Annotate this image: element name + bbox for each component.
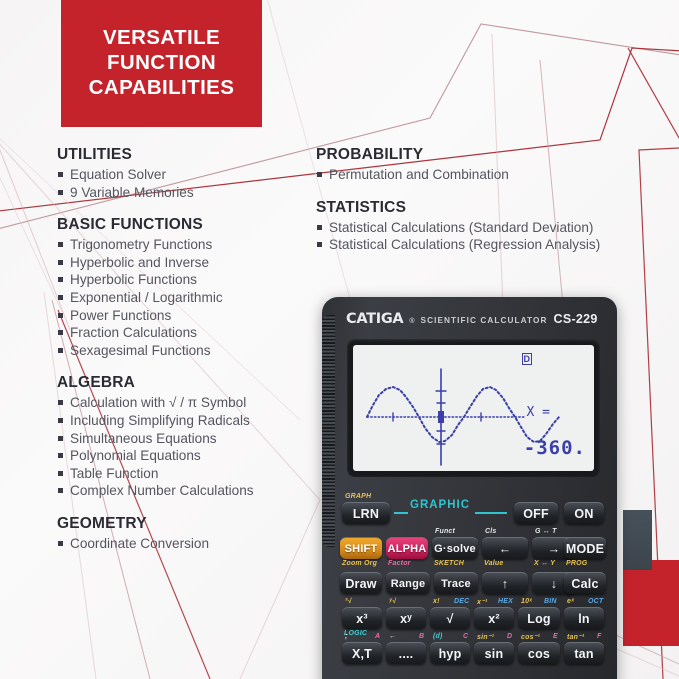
feature-list-item: Trigonometry Functions xyxy=(57,236,307,254)
range-key[interactable]: Range xyxy=(386,572,430,594)
bullet-square-icon xyxy=(58,453,63,458)
bullet-square-icon xyxy=(58,260,63,265)
graphic-dash-right xyxy=(475,512,507,514)
feature-list-item: Fraction Calculations xyxy=(57,324,307,342)
log-key-alt-label: BIN xyxy=(544,598,557,605)
cos-key[interactable]: cos xyxy=(518,642,560,664)
feature-item-label: Polynomial Equations xyxy=(70,448,201,463)
bullet-square-icon xyxy=(58,190,63,195)
feature-item-label: Statistical Calculations (Regression Ana… xyxy=(329,237,600,252)
x-t-key[interactable]: X,T xyxy=(342,642,382,664)
power-row: GRAPHLRNOFFONGRAPHIC xyxy=(338,493,606,528)
corner-red-block xyxy=(623,560,679,646)
feature-list-item: Power Functions xyxy=(57,307,307,325)
bullet-square-icon xyxy=(58,348,63,353)
graphic-dash-left xyxy=(394,512,408,514)
bullet-square-icon xyxy=(58,277,63,282)
tan-key-shift-label: tan⁻¹ xyxy=(567,633,585,641)
feature-section-title: PROBABILITY xyxy=(316,146,676,164)
feature-item-label: Statistical Calculations (Standard Devia… xyxy=(329,220,593,235)
log-key-shift-label: 10ˣ xyxy=(521,598,532,605)
feature-item-label: Hyperbolic Functions xyxy=(70,272,197,287)
x-cubed-key[interactable]: x³ xyxy=(342,607,382,629)
calc-key[interactable]: Calc xyxy=(564,572,606,594)
x-cubed-key-shift-label: ³√ xyxy=(345,598,352,605)
mode-key[interactable]: MODE xyxy=(564,537,606,559)
feature-column-right: PROBABILITYPermutation and CombinationST… xyxy=(316,146,676,254)
feature-item-label: Including Simplifying Radicals xyxy=(70,413,250,428)
feature-item-label: Fraction Calculations xyxy=(70,325,197,340)
brand-logo: CATIGA xyxy=(346,311,403,327)
feature-section-title: BASIC FUNCTIONS xyxy=(57,216,307,234)
registered-mark-icon: ® xyxy=(409,318,414,325)
brand-plate: CATIGA ® SCIENTIFIC CALCULATOR CS-229 xyxy=(346,311,601,327)
model-number: CS-229 xyxy=(554,312,598,326)
feature-section: STATISTICSStatistical Calculations (Stan… xyxy=(316,199,676,254)
comma-key-shift-label: ← xyxy=(389,633,396,640)
feature-section-title: UTILITIES xyxy=(57,146,307,164)
feature-item-label: Exponential / Logarithmic xyxy=(70,290,223,305)
header-banner: VERSATILE FUNCTION CAPABILITIES xyxy=(61,0,262,127)
feature-item-label: Power Functions xyxy=(70,308,171,323)
feature-list-item: Complex Number Calculations xyxy=(57,482,307,500)
banner-line-2: FUNCTION xyxy=(107,50,216,75)
lcd-value: -360. xyxy=(524,437,586,459)
x-t-key-shift-label: ; xyxy=(345,633,348,640)
bullet-square-icon xyxy=(58,488,63,493)
hyp-key-shift-label: (d) xyxy=(433,633,443,640)
feature-section-title: GEOMETRY xyxy=(57,515,307,533)
shift-key[interactable]: SHIFT xyxy=(340,537,382,559)
bullet-square-icon xyxy=(58,172,63,177)
feature-item-label: 9 Variable Memories xyxy=(70,185,194,200)
lcd-screen: D X = -360. xyxy=(353,345,594,471)
bullet-square-icon xyxy=(58,471,63,476)
left-arrow-key-shift-label: Cls xyxy=(485,528,497,535)
on-key[interactable]: ON xyxy=(564,502,604,524)
right-arrow-key-shift-label: G ↔ T xyxy=(535,528,557,535)
feature-column-left: UTILITIESEquation Solver9 Variable Memor… xyxy=(57,146,307,553)
draw-key[interactable]: Draw xyxy=(340,572,382,594)
power-func-row: ³√x³LOGICʸ√xʸx!DEC√x⁻¹HEXx²10ˣBINLogeˣOC… xyxy=(338,598,606,633)
bullet-square-icon xyxy=(317,172,322,177)
tan-key-alpha-letter: F xyxy=(597,633,601,640)
feature-section: PROBABILITYPermutation and Combination xyxy=(316,146,676,184)
bullet-square-icon xyxy=(317,225,322,230)
sin-key[interactable]: sin xyxy=(474,642,514,664)
banner-line-3: CAPABILITIES xyxy=(89,75,235,100)
trace-key[interactable]: Trace xyxy=(434,572,478,594)
x-to-y-key-shift-label: ʸ√ xyxy=(389,598,396,605)
x-squared-key-shift-label: x⁻¹ xyxy=(477,598,488,606)
lcd-degree-indicator: D xyxy=(522,353,533,365)
calculator-product: CATIGA ® SCIENTIFIC CALCULATOR CS-229 xyxy=(322,297,617,679)
feature-section: BASIC FUNCTIONSTrigonometry FunctionsHyp… xyxy=(57,216,307,359)
bullet-square-icon xyxy=(58,313,63,318)
bullet-square-icon xyxy=(317,242,322,247)
bullet-square-icon xyxy=(58,436,63,441)
ln-key-shift-label: eˣ xyxy=(567,598,574,605)
feature-item-label: Table Function xyxy=(70,466,158,481)
bullet-square-icon xyxy=(58,541,63,546)
ln-key[interactable]: ln xyxy=(564,607,604,629)
feature-list-item: Including Simplifying Radicals xyxy=(57,412,307,430)
feature-item-label: Simultaneous Equations xyxy=(70,431,217,446)
comma-key-alpha-letter: B xyxy=(419,633,424,640)
x-t-key-alpha-letter: A xyxy=(375,633,380,640)
feature-item-label: Sexagesimal Functions xyxy=(70,343,211,358)
log-key[interactable]: Log xyxy=(518,607,560,629)
feature-item-label: Equation Solver xyxy=(70,167,166,182)
sqrt-key-alt-label: DEC xyxy=(454,598,469,605)
bullet-square-icon xyxy=(58,400,63,405)
feature-list: Equation Solver9 Variable Memories xyxy=(57,166,307,201)
feature-list-item: Coordinate Conversion xyxy=(57,535,307,553)
feature-list-item: Calculation with √ / π Symbol xyxy=(57,394,307,412)
cos-key-alpha-letter: E xyxy=(553,633,558,640)
feature-section: UTILITIESEquation Solver9 Variable Memor… xyxy=(57,146,307,201)
slide-cover-tab xyxy=(623,510,652,570)
gsolve-key[interactable]: G·solve xyxy=(432,537,478,559)
left-arrow-key[interactable]: ← xyxy=(482,537,528,559)
sqrt-key[interactable]: √ xyxy=(430,607,470,629)
gsolve-key-shift-label: Funct xyxy=(435,528,455,535)
banner-line-1: VERSATILE xyxy=(103,25,220,50)
feature-list: Permutation and Combination xyxy=(316,166,676,184)
feature-list: Trigonometry FunctionsHyperbolic and Inv… xyxy=(57,236,307,359)
feature-list-item: Sexagesimal Functions xyxy=(57,342,307,360)
feature-list: Coordinate Conversion xyxy=(57,535,307,553)
feature-item-label: Calculation with √ / π Symbol xyxy=(70,395,246,410)
trig-row: ;AX,T←B....(d)Chypsin⁻¹Dsincos⁻¹Ecostan⁻… xyxy=(338,633,606,668)
feature-section-title: STATISTICS xyxy=(316,199,676,217)
feature-list-item: Hyperbolic and Inverse xyxy=(57,254,307,272)
feature-item-label: Hyperbolic and Inverse xyxy=(70,255,209,270)
lrn-key[interactable]: LRN xyxy=(342,502,390,524)
sin-key-shift-label: sin⁻¹ xyxy=(477,633,494,641)
draw-row: DrawRangeTrace↑↓Calc xyxy=(338,563,606,598)
hyp-key-alpha-letter: C xyxy=(463,633,468,640)
feature-list-item: Exponential / Logarithmic xyxy=(57,289,307,307)
tan-key[interactable]: tan xyxy=(564,642,604,664)
feature-section: ALGEBRACalculation with √ / π SymbolIncl… xyxy=(57,374,307,500)
cos-key-shift-label: cos⁻¹ xyxy=(521,633,540,641)
lcd-x-label: X = xyxy=(527,405,550,420)
sin-key-alpha-letter: D xyxy=(507,633,512,640)
shift-row: SHIFTZoom OrgALPHAFactorFunctG·solveSKET… xyxy=(338,528,606,563)
off-key[interactable]: OFF xyxy=(514,502,558,524)
x-squared-key[interactable]: x² xyxy=(474,607,514,629)
alpha-key[interactable]: ALPHA xyxy=(386,537,428,559)
bullet-square-icon xyxy=(58,295,63,300)
ln-key-alt-label: OCT xyxy=(588,598,603,605)
feature-list: Statistical Calculations (Standard Devia… xyxy=(316,219,676,254)
hyp-key[interactable]: hyp xyxy=(430,642,470,664)
x-squared-key-alt-label: HEX xyxy=(498,598,513,605)
comma-key[interactable]: .... xyxy=(386,642,426,664)
calculator-side-grip xyxy=(322,315,335,547)
sqrt-key-shift-label: x! xyxy=(433,598,440,605)
feature-section-title: ALGEBRA xyxy=(57,374,307,392)
x-to-y-key[interactable]: xʸ xyxy=(386,607,426,629)
feature-list-item: Statistical Calculations (Regression Ana… xyxy=(316,236,676,254)
feature-list-item: Hyperbolic Functions xyxy=(57,271,307,289)
graphic-mode-label: GRAPHIC xyxy=(410,499,470,511)
feature-item-label: Permutation and Combination xyxy=(329,167,509,182)
feature-item-label: Complex Number Calculations xyxy=(70,483,254,498)
bullet-square-icon xyxy=(58,418,63,423)
feature-list-item: Simultaneous Equations xyxy=(57,430,307,448)
feature-list-item: 9 Variable Memories xyxy=(57,184,307,202)
brand-subtitle: SCIENTIFIC CALCULATOR xyxy=(421,316,548,325)
feature-item-label: Trigonometry Functions xyxy=(70,237,212,252)
feature-section: GEOMETRYCoordinate Conversion xyxy=(57,515,307,553)
bullet-square-icon xyxy=(58,242,63,247)
infographic-page: VERSATILE FUNCTION CAPABILITIES UTILITIE… xyxy=(0,0,679,679)
feature-item-label: Coordinate Conversion xyxy=(70,536,209,551)
feature-list-item: Table Function xyxy=(57,465,307,483)
feature-list-item: Polynomial Equations xyxy=(57,447,307,465)
up-arrow-key[interactable]: ↑ xyxy=(482,572,528,594)
calculator-keypad: GRAPHLRNOFFONGRAPHICSHIFTZoom OrgALPHAFa… xyxy=(338,493,606,668)
feature-list-item: Permutation and Combination xyxy=(316,166,676,184)
feature-list-item: Statistical Calculations (Standard Devia… xyxy=(316,219,676,237)
lrn-key-shift-label: GRAPH xyxy=(345,493,371,500)
bullet-square-icon xyxy=(58,330,63,335)
feature-list-item: Equation Solver xyxy=(57,166,307,184)
feature-list: Calculation with √ / π SymbolIncluding S… xyxy=(57,394,307,500)
lcd-bezel: D X = -360. xyxy=(347,339,600,477)
